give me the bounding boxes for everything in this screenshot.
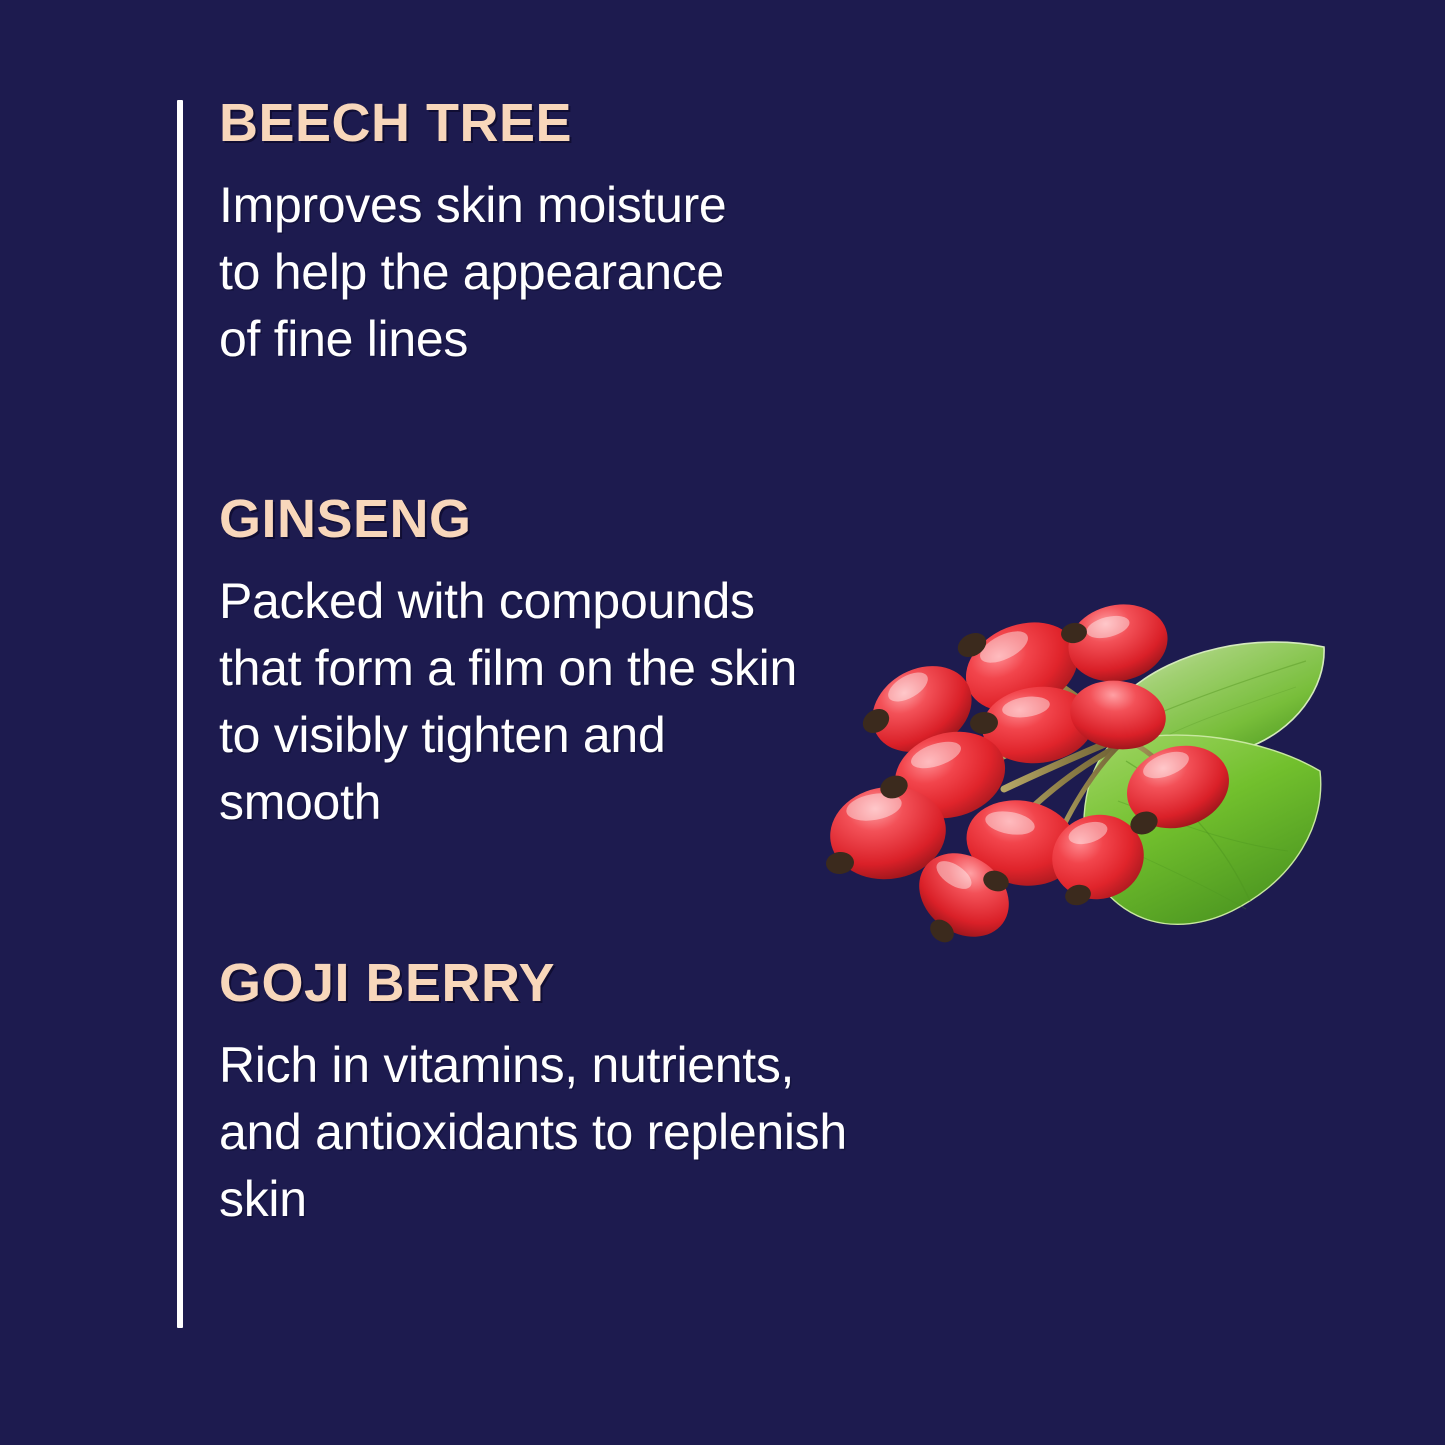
ingredient-item-ginseng: GINSENG Packed with compounds that form … xyxy=(219,492,839,836)
ingredient-name-ginseng: GINSENG xyxy=(219,492,839,546)
ingredient-name-goji-berry: GOJI BERRY xyxy=(219,956,859,1010)
ingredient-item-beech-tree: BEECH TREE Improves skin moisture to hel… xyxy=(219,96,759,373)
vertical-divider xyxy=(177,100,183,1328)
ingredient-description-beech-tree: Improves skin moisture to help the appea… xyxy=(219,172,759,373)
ingredient-item-goji-berry: GOJI BERRY Rich in vitamins, nutrients, … xyxy=(219,956,859,1233)
ingredients-infographic: INGREDIENTS BEECH TREE Improves skin moi… xyxy=(0,0,1445,1445)
goji-berry-photo xyxy=(826,575,1366,955)
ingredient-name-beech-tree: BEECH TREE xyxy=(219,96,759,150)
ingredient-description-ginseng: Packed with compounds that form a film o… xyxy=(219,568,839,836)
ingredient-description-goji-berry: Rich in vitamins, nutrients, and antioxi… xyxy=(219,1032,859,1233)
